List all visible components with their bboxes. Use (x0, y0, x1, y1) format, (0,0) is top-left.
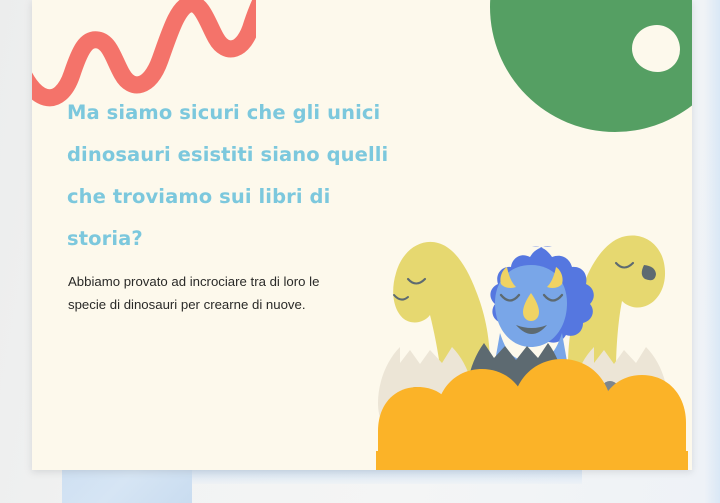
lower-blue-panel (62, 470, 192, 503)
right-edge-tint (704, 0, 720, 503)
cream-circle-cutout (632, 25, 680, 72)
body-line-1: Abbiamo provato ad incrociare tra di lor… (68, 270, 388, 293)
body-line-2: specie di dinosauri per crearne di nuove… (68, 293, 388, 316)
hatching-baby-dinosaurs-illustration (372, 215, 692, 470)
slide-heading: Ma siamo sicuri che gli unici dinosauri … (67, 92, 397, 260)
presentation-slide[interactable]: Ma siamo sicuri che gli unici dinosauri … (32, 0, 692, 470)
slide-body-text: Abbiamo provato ad incrociare tra di lor… (68, 270, 388, 316)
